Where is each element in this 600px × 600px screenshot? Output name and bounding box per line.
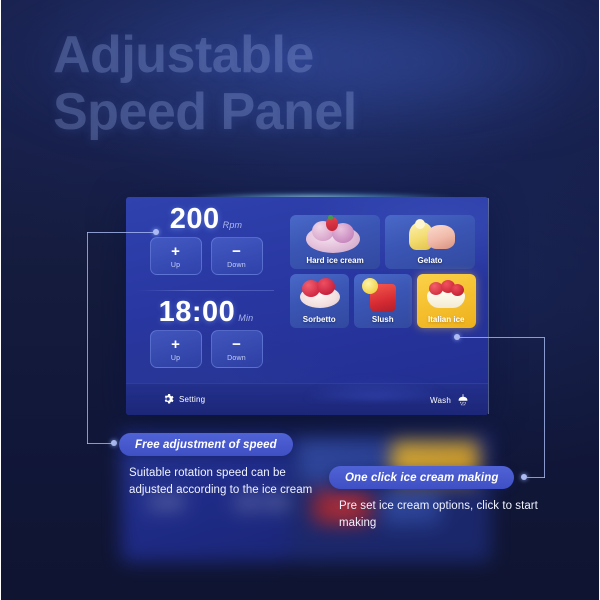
timer-down-label: Down [227,355,246,362]
background-wave-top [0,0,600,140]
flavor-label: Italian ice [428,315,464,324]
flavor-grid: Hard ice cream Gelato [290,215,476,333]
flavor-tile-gelato[interactable]: Gelato [385,215,475,269]
speed-down-button[interactable]: − Down [211,237,263,275]
speed-value-row: 200 Rpm [126,197,286,233]
flavor-label: Hard ice cream [306,256,363,265]
gelato-art [385,217,475,253]
wash-label: Wash [430,396,451,405]
flavor-label: Slush [372,315,394,324]
timer-unit: Min [238,313,253,323]
promo-screen: Adjustable Speed Panel 100 18:00 200 Rpm [0,0,600,600]
connector-segment [544,337,545,478]
speed-readout: 200 Rpm + Up − Down [126,197,286,290]
page-title: Adjustable Speed Panel [53,30,357,138]
shower-icon [456,393,470,407]
timer-button-row: + Up − Down [126,330,286,368]
timer-readout: 18:00 Min + Up − Down [126,290,286,383]
speed-value: 200 [170,203,220,236]
panel-bottom-bar: Setting Wash [126,383,488,415]
minus-icon: − [232,244,241,259]
flavor-tile-sorbetto[interactable]: Sorbetto [290,274,349,328]
control-panel: 200 Rpm + Up − Down 18:00 M [126,197,488,415]
timer-value: 18:00 [159,296,236,329]
speed-timer-column: 200 Rpm + Up − Down 18:00 M [126,197,286,383]
page-title-line-1: Adjustable [53,30,357,81]
timer-up-label: Up [171,355,180,362]
connector-segment [87,232,88,444]
ghost-right-column [289,432,491,562]
connector-segment [527,477,545,478]
speed-unit: Rpm [223,220,243,230]
speed-up-label: Up [171,262,180,269]
flavor-row-top: Hard ice cream Gelato [290,215,476,269]
speed-down-label: Down [227,262,246,269]
italian-ice-art [417,276,476,312]
hard-ice-cream-art [290,217,380,253]
flavor-tile-hard-ice-cream[interactable]: Hard ice cream [290,215,380,269]
timer-down-button[interactable]: − Down [211,330,263,368]
minus-icon: − [232,337,241,352]
connector-dot-target [521,474,527,480]
flavor-tile-slush[interactable]: Slush [354,274,413,328]
speed-up-button[interactable]: + Up [150,237,202,275]
wash-button[interactable]: Wash [430,393,470,407]
flavor-label: Gelato [418,256,443,265]
page-title-line-2: Speed Panel [53,87,357,138]
flavor-label: Sorbetto [303,315,336,324]
plus-icon: + [171,244,180,259]
connector-segment [87,443,115,444]
callout-body-speed: Suitable rotation speed can be adjusted … [129,465,315,500]
timer-up-button[interactable]: + Up [150,330,202,368]
slush-art [354,276,413,312]
timer-value-row: 18:00 Min [126,290,286,326]
sorbetto-art [290,276,349,312]
setting-button[interactable]: Setting [162,393,205,405]
flavor-tile-italian-ice[interactable]: Italian ice [417,274,476,328]
speed-button-row: + Up − Down [126,237,286,275]
callout-pill-speed: Free adjustment of speed [119,433,293,456]
gear-icon [162,393,174,405]
plus-icon: + [171,337,180,352]
background-wave-secondary [240,10,600,140]
setting-label: Setting [179,395,205,404]
flavor-row-bottom: Sorbetto Slush Itali [290,274,476,328]
callout-pill-oneclick: One click ice cream making [329,466,514,489]
connector-dot-target [111,440,117,446]
callout-body-oneclick: Pre set ice cream options, click to star… [339,498,539,533]
